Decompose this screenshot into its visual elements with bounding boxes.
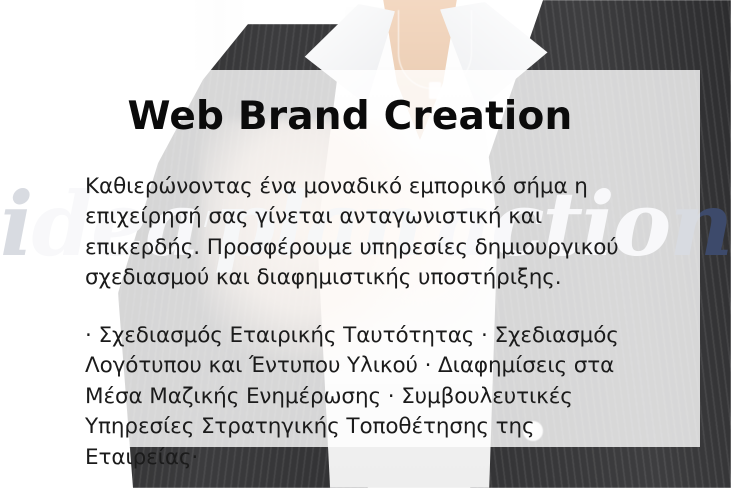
services-paragraph: · Σχεδιασμός Εταιρικής Ταυτότητας · Σχεδ… <box>85 321 625 474</box>
intro-paragraph: Καθιερώνοντας ένα μοναδικό εμπορικό σήμα… <box>85 172 645 294</box>
page-title: Web Brand Creation <box>0 70 700 138</box>
content-area: Web Brand Creation Καθιερώνοντας ένα μον… <box>0 70 700 447</box>
banner-slide: i dea plan actio n Web Brand Creation Κα… <box>0 0 731 488</box>
